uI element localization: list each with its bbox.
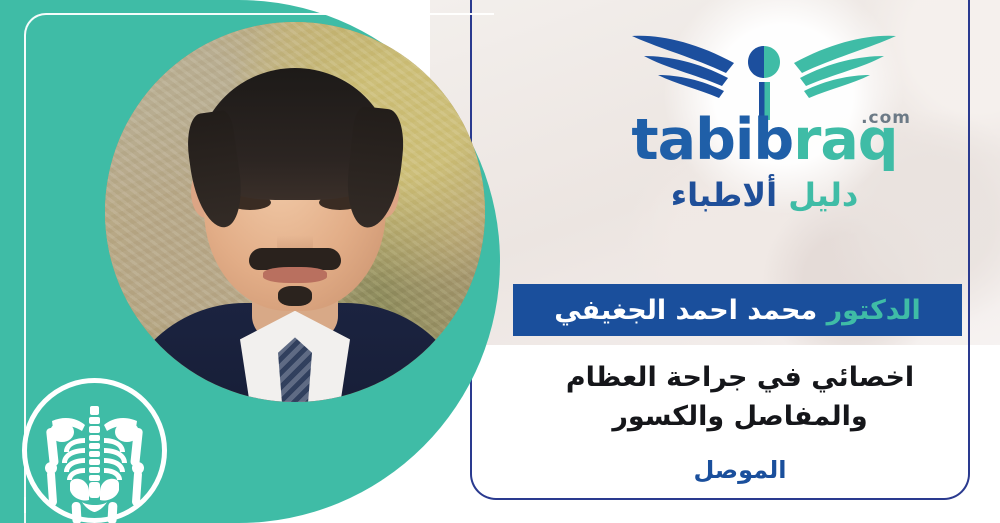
doctor-profile-card: tabibraq .com دليل ألاطباء الدكتور محمد … (0, 0, 1000, 523)
logo-tagline-part2: ألاطباء (671, 176, 777, 214)
doctor-name: محمد احمد الجغيفي (554, 295, 817, 326)
tabibiraq-logo: tabibraq .com دليل ألاطباء (612, 28, 917, 223)
badge-ring (22, 378, 167, 523)
logo-tagline-part1: دليل (788, 176, 858, 214)
doctor-name-banner: الدكتور محمد احمد الجغيفي (513, 284, 962, 336)
doctor-portrait (105, 22, 485, 402)
skeleton-badge (22, 378, 167, 523)
doctor-city: الموصل (520, 458, 960, 482)
doctor-specialty: اخصائي في جراحة العظام والمفاصل والكسور (520, 358, 960, 436)
portrait-figure (105, 22, 485, 402)
doctor-title: الدكتور (827, 295, 921, 326)
specialty-line-2: والمفاصل والكسور (520, 397, 960, 436)
specialty-line-1: اخصائي في جراحة العظام (520, 358, 960, 397)
logo-wordmark-part1: tabib (631, 107, 793, 173)
logo-tld: .com (861, 108, 911, 128)
logo-tagline: دليل ألاطباء (612, 176, 917, 214)
doctor-name-text: الدكتور محمد احمد الجغيفي (554, 297, 921, 324)
